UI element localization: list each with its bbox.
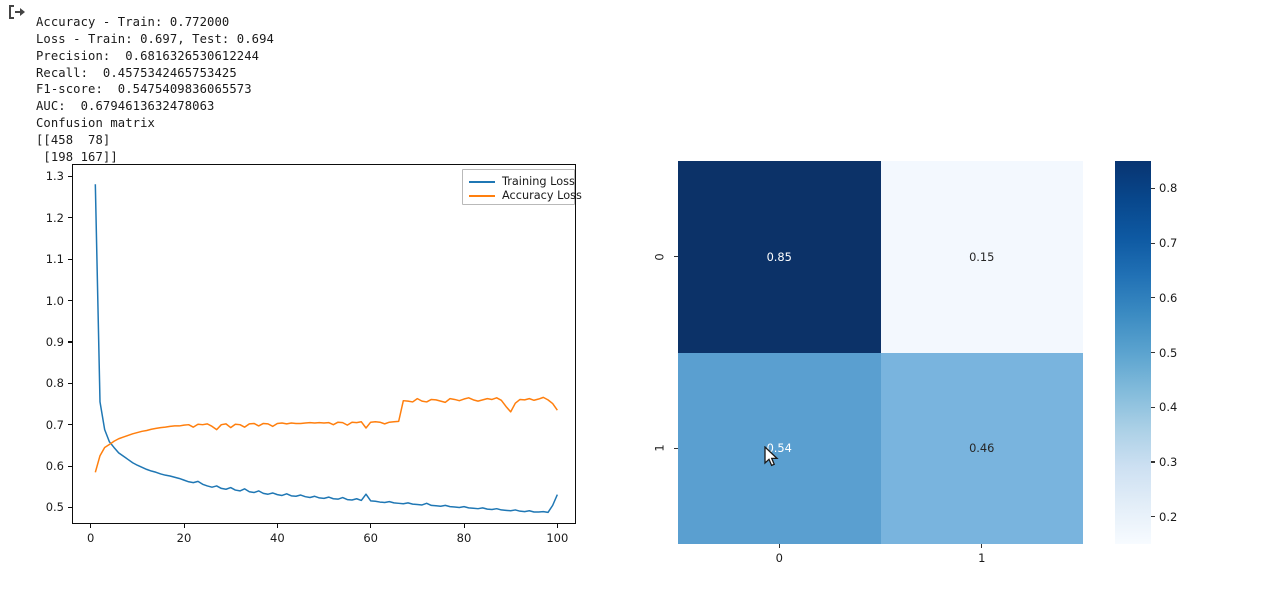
x-tick-mark bbox=[277, 524, 278, 528]
heatmap-cell-0-0: 0.85 bbox=[678, 161, 881, 353]
heatmap-col-label: 1 bbox=[978, 551, 985, 565]
line-series-accuracy-loss bbox=[95, 397, 557, 472]
legend-swatch-orange bbox=[469, 195, 495, 197]
colorbar-gradient bbox=[1115, 161, 1151, 544]
output-arrow-icon bbox=[6, 4, 26, 20]
y-tick-mark bbox=[68, 507, 72, 508]
legend-label-accuracy-loss: Accuracy Loss bbox=[502, 189, 582, 202]
stdout-text: Accuracy - Train: 0.772000 Loss - Train:… bbox=[36, 14, 274, 165]
x-tick-mark bbox=[184, 524, 185, 528]
y-tick-mark bbox=[68, 424, 72, 425]
colorbar-tick-mark bbox=[1151, 461, 1155, 462]
colorbar-tick-mark bbox=[1151, 407, 1155, 408]
colorbar-tick-label: 0.2 bbox=[1159, 510, 1177, 524]
colorbar-tick-label: 0.7 bbox=[1159, 236, 1177, 250]
heatmap-colorbar bbox=[1115, 161, 1151, 544]
y-tick-mark bbox=[68, 300, 72, 301]
heatmap-row-tick bbox=[674, 448, 678, 449]
x-tick-label: 40 bbox=[270, 531, 285, 545]
x-tick-mark bbox=[557, 524, 558, 528]
colorbar-tick-label: 0.3 bbox=[1159, 455, 1177, 469]
line-chart-legend: Training Loss Accuracy Loss bbox=[462, 169, 575, 205]
training-loss-line-chart: 0.50.60.70.80.91.01.11.21.3 020406080100… bbox=[0, 158, 600, 570]
y-tick-mark bbox=[68, 383, 72, 384]
legend-swatch-blue bbox=[469, 181, 495, 183]
legend-label-training-loss: Training Loss bbox=[502, 175, 575, 188]
y-tick-label: 0.6 bbox=[46, 459, 64, 473]
y-tick-label: 0.9 bbox=[46, 335, 64, 349]
colorbar-tick-mark bbox=[1151, 188, 1155, 189]
x-tick-mark bbox=[464, 524, 465, 528]
line-chart-plot-area bbox=[72, 164, 576, 524]
x-tick-label: 80 bbox=[457, 531, 472, 545]
x-tick-label: 100 bbox=[546, 531, 568, 545]
colorbar-tick-label: 0.6 bbox=[1159, 291, 1177, 305]
x-tick-mark bbox=[370, 524, 371, 528]
heatmap-cell-0-1: 0.15 bbox=[881, 161, 1084, 353]
x-tick-mark bbox=[90, 524, 91, 528]
heatmap-col-tick bbox=[779, 544, 780, 548]
y-tick-mark bbox=[68, 341, 72, 342]
heatmap-row-label: 1 bbox=[653, 445, 667, 452]
heatmap-row-label: 0 bbox=[653, 253, 667, 260]
y-tick-label: 1.0 bbox=[46, 294, 64, 308]
y-tick-mark bbox=[68, 466, 72, 467]
y-tick-label: 0.8 bbox=[46, 376, 64, 390]
y-tick-label: 0.5 bbox=[46, 500, 64, 514]
line-series-training-loss bbox=[95, 184, 557, 512]
heatmap-grid: 0.850.150.540.46 bbox=[678, 161, 1083, 544]
y-tick-mark bbox=[68, 259, 72, 260]
heatmap-cell-1-0: 0.54 bbox=[678, 353, 881, 545]
colorbar-tick-label: 0.8 bbox=[1159, 181, 1177, 195]
heatmap-cell-1-1: 0.46 bbox=[881, 353, 1084, 545]
x-tick-label: 20 bbox=[177, 531, 192, 545]
notebook-output-cell: Accuracy - Train: 0.772000 Loss - Train:… bbox=[0, 0, 640, 158]
confusion-matrix-heatmap: 0.850.150.540.46 01 01 0.20.30.40.50.60.… bbox=[640, 158, 1264, 570]
x-tick-label: 0 bbox=[87, 531, 94, 545]
colorbar-tick-mark bbox=[1151, 516, 1155, 517]
heatmap-col-tick bbox=[981, 544, 982, 548]
y-tick-mark bbox=[68, 176, 72, 177]
y-tick-label: 1.3 bbox=[46, 169, 64, 183]
colorbar-tick-label: 0.5 bbox=[1159, 346, 1177, 360]
colorbar-tick-mark bbox=[1151, 352, 1155, 353]
heatmap-row-tick bbox=[674, 256, 678, 257]
colorbar-tick-mark bbox=[1151, 243, 1155, 244]
y-tick-label: 1.2 bbox=[46, 211, 64, 225]
y-tick-label: 1.1 bbox=[46, 252, 64, 266]
colorbar-tick-label: 0.4 bbox=[1159, 400, 1177, 414]
x-tick-label: 60 bbox=[363, 531, 378, 545]
y-tick-label: 0.7 bbox=[46, 418, 64, 432]
heatmap-col-label: 0 bbox=[776, 551, 783, 565]
y-tick-mark bbox=[68, 217, 72, 218]
colorbar-tick-mark bbox=[1151, 297, 1155, 298]
